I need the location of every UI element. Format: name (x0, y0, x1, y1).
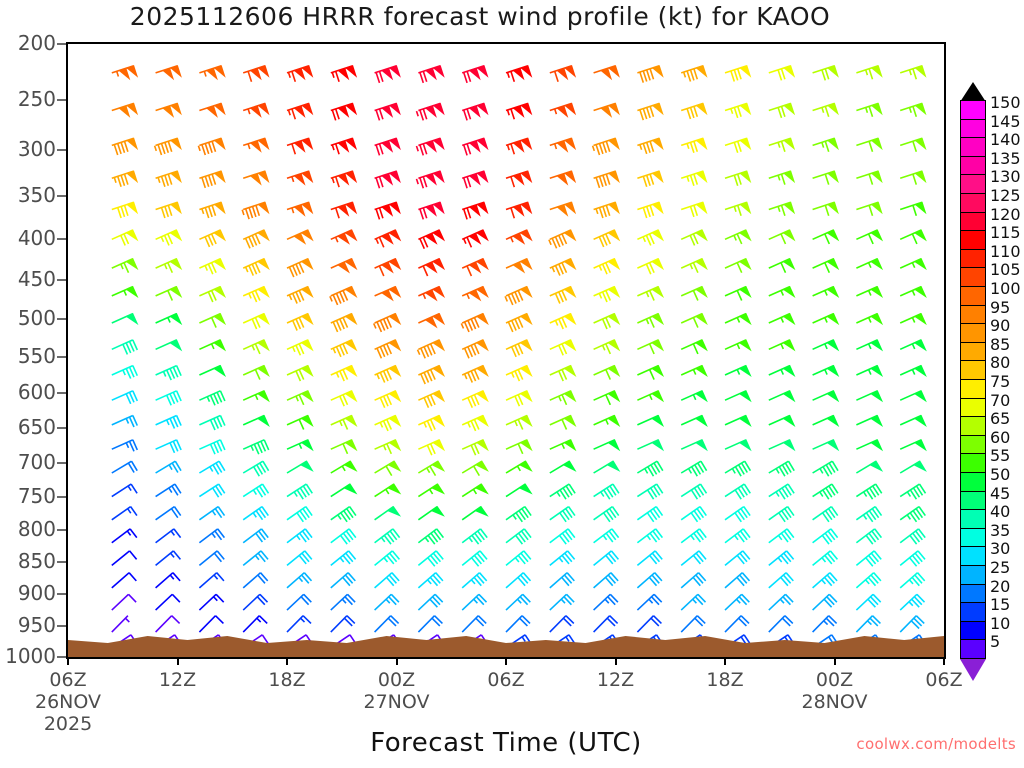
wind-barb (769, 340, 795, 350)
wind-barb (856, 484, 881, 499)
wind-barb (594, 230, 620, 247)
wind-barb (637, 594, 661, 610)
wind-barb (331, 314, 357, 332)
colorbar-tick-label: 135 (990, 151, 1021, 167)
wind-barb (242, 202, 268, 219)
wind-barb (549, 230, 575, 248)
wind-barb (594, 171, 619, 188)
wind-barb (418, 314, 444, 327)
colorbar-swatch[interactable] (960, 100, 986, 120)
wind-barb (681, 202, 706, 217)
wind-barb (637, 66, 662, 83)
wind-barb (856, 461, 881, 473)
wind-barb (769, 573, 794, 588)
wind-barb (725, 202, 750, 216)
wind-barb (813, 391, 839, 401)
wind-barb (287, 202, 312, 215)
wind-barb (156, 314, 182, 324)
wind-barb (856, 171, 881, 185)
wind-barb (550, 416, 576, 430)
wind-barb (506, 440, 532, 454)
wind-barb (243, 340, 269, 354)
colorbar-swatch[interactable] (960, 286, 986, 306)
wind-barb (637, 314, 663, 328)
wind-barb (681, 287, 707, 301)
colorbar-swatch[interactable] (960, 398, 986, 418)
wind-barb (243, 573, 268, 588)
wind-barb (681, 138, 706, 153)
wind-barb (243, 551, 268, 566)
y-axis-tick-label: 1000 (5, 644, 56, 668)
wind-barb (156, 66, 181, 79)
wind-barb (725, 616, 749, 632)
wind-barb (462, 529, 487, 544)
x-axis-tick-label: 12Z (576, 669, 656, 691)
wind-barb (813, 594, 837, 610)
wind-barb (462, 202, 487, 219)
wind-barb (112, 391, 138, 404)
wind-barb (156, 366, 182, 381)
wind-barb (243, 287, 269, 302)
colorbar-tick-label: 15 (990, 597, 1010, 613)
wind-barb (725, 314, 751, 324)
colorbar-swatch[interactable] (960, 137, 986, 157)
wind-barb (769, 103, 794, 118)
wind-barb (418, 551, 443, 566)
wind-barb (418, 287, 444, 300)
y-axis-tick-label: 500 (18, 306, 56, 330)
y-axis-tick-label: 950 (18, 613, 56, 637)
wind-barb (506, 340, 532, 357)
wind-barb (506, 230, 532, 243)
wind-barb (856, 287, 882, 297)
wind-barb (725, 66, 750, 82)
wind-barb (637, 507, 662, 522)
colorbar-swatch[interactable] (960, 546, 986, 566)
wind-barb (681, 440, 707, 450)
wind-barb (199, 259, 225, 275)
wind-barb (681, 340, 707, 354)
wind-barb (550, 391, 576, 405)
wind-barb (900, 551, 925, 566)
wind-barb (506, 391, 532, 406)
colorbar-legend[interactable]: 1501451401351301251201151101051009590858… (960, 82, 1024, 662)
wind-barb (112, 202, 137, 218)
wind-barb (112, 171, 137, 187)
wind-barb (681, 171, 706, 186)
wind-barb (199, 314, 225, 328)
wind-barb (769, 551, 794, 566)
colorbar-swatch[interactable] (960, 621, 986, 641)
wind-barb (330, 287, 356, 305)
wind-barb (462, 551, 487, 566)
x-axis-tick-label: 06Z (28, 669, 108, 691)
x-axis-tick-label: 18Z (685, 669, 765, 691)
wind-barb (375, 507, 400, 520)
wind-barb (375, 366, 401, 383)
wind-barb (594, 202, 619, 218)
wind-barb (506, 551, 531, 566)
x-axis-tick-label: 00Z (795, 669, 875, 691)
wind-barb (506, 594, 530, 610)
wind-barb (243, 171, 268, 184)
wind-barb (681, 416, 707, 426)
wind-barb (112, 461, 137, 473)
wind-barb (769, 230, 795, 244)
wind-barb (417, 171, 444, 188)
y-axis-tick-label: 450 (18, 267, 56, 291)
wind-barb (681, 507, 706, 522)
wind-barb (725, 287, 751, 301)
y-axis-tick-label: 600 (18, 380, 56, 404)
wind-barb (813, 66, 838, 81)
wind-barb (199, 616, 223, 632)
wind-barb (199, 507, 224, 520)
wind-barb (900, 391, 926, 401)
wind-barb (199, 551, 224, 566)
wind-barb (112, 529, 137, 543)
colorbar-tick-label: 60 (990, 430, 1010, 446)
colorbar-swatch[interactable] (960, 305, 986, 325)
wind-barb (769, 202, 794, 216)
wind-barb (112, 551, 137, 566)
wind-barb (287, 366, 313, 382)
wind-barb (331, 507, 356, 522)
wind-barb (331, 171, 356, 187)
wind-barb (550, 138, 575, 151)
colorbar-swatch[interactable] (960, 230, 986, 250)
wind-barb (462, 440, 488, 455)
colorbar-swatch[interactable] (960, 193, 986, 213)
wind-barb (900, 440, 926, 450)
wind-barb (331, 594, 355, 610)
wind-barb (550, 171, 575, 184)
wind-barb (375, 461, 400, 475)
wind-barb (462, 416, 488, 431)
wind-barb (637, 551, 662, 566)
wind-barb (594, 416, 620, 426)
wind-barb (725, 416, 751, 426)
wind-barb (112, 507, 137, 520)
wind-barb (243, 416, 269, 426)
wind-barb (462, 366, 488, 383)
wind-barb (900, 259, 926, 269)
page-title: 2025112606 HRRR forecast wind profile (k… (0, 2, 960, 31)
colorbar-swatch[interactable] (960, 360, 986, 380)
wind-barb (856, 202, 881, 216)
wind-barb (637, 103, 662, 120)
wind-barb (637, 366, 663, 380)
x-axis-tick-mark (834, 657, 836, 665)
wind-barb (637, 461, 662, 476)
wind-barb (900, 594, 924, 610)
colorbar-swatch[interactable] (960, 323, 986, 343)
wind-barb (506, 416, 532, 430)
wind-barb (637, 171, 662, 187)
colorbar-tick-label: 125 (990, 188, 1021, 204)
wind-barb (506, 103, 531, 119)
wind-barb (681, 461, 706, 476)
wind-barb (375, 484, 400, 497)
wind-barb (550, 461, 575, 473)
wind-barb (287, 287, 313, 304)
wind-barb (462, 103, 487, 120)
wind-barb (637, 529, 662, 543)
wind-barb (725, 551, 750, 566)
wind-barb (199, 391, 225, 406)
y-axis-tick-label: 700 (18, 450, 56, 474)
colorbar-swatch[interactable] (960, 267, 986, 287)
wind-barb (375, 616, 399, 632)
wind-barb (199, 484, 224, 497)
x-axis-title: Forecast Time (UTC) (66, 728, 946, 758)
x-axis-date-label: 26NOV (18, 691, 118, 713)
wind-barb (375, 573, 400, 588)
wind-barb (462, 573, 487, 588)
wind-barb (594, 314, 620, 329)
wind-barb (243, 391, 269, 401)
wind-barb (550, 594, 574, 610)
wind-barb (637, 138, 662, 154)
wind-barb (156, 616, 180, 632)
wind-barb (112, 484, 137, 497)
wind-barb (594, 287, 620, 302)
wind-barb (900, 484, 925, 499)
colorbar-tick-label: 120 (990, 207, 1021, 223)
wind-barb (506, 66, 531, 82)
wind-barb (418, 366, 444, 384)
wind-barb (900, 314, 926, 324)
x-axis-tick-mark (724, 657, 726, 665)
wind-barb (199, 529, 224, 543)
wind-barb (243, 529, 268, 543)
wind-barb (550, 202, 575, 215)
wind-barb (417, 103, 444, 120)
colorbar-swatch[interactable] (960, 639, 986, 659)
x-axis-tick-mark (505, 657, 507, 665)
y-axis-tick-mark (57, 462, 66, 464)
wind-barb (637, 202, 662, 218)
wind-barb (418, 616, 442, 632)
wind-barb (681, 594, 705, 610)
wind-barb (112, 230, 138, 245)
colorbar-tick-label: 90 (990, 318, 1010, 334)
colorbar-tick-label: 85 (990, 337, 1010, 353)
wind-barb (813, 259, 839, 273)
wind-barb (156, 507, 181, 520)
wind-barb (813, 573, 838, 588)
wind-barb (375, 287, 401, 300)
wind-barb (156, 594, 180, 610)
wind-barb (418, 529, 443, 544)
colorbar-swatch[interactable] (960, 509, 986, 529)
wind-barb (462, 507, 487, 520)
wind-barb (637, 440, 663, 450)
colorbar-swatch[interactable] (960, 119, 986, 139)
colorbar-tick-label: 10 (990, 616, 1010, 632)
colorbar-swatch[interactable] (960, 435, 986, 455)
wind-barb (418, 230, 444, 249)
colorbar-swatch[interactable] (960, 174, 986, 194)
y-axis-tick-label: 200 (18, 31, 56, 55)
wind-barb (681, 66, 706, 82)
y-axis-tick-mark (57, 496, 66, 498)
wind-barb (199, 171, 224, 188)
wind-barb (287, 340, 313, 355)
wind-barb (550, 551, 575, 566)
wind-barb (506, 366, 532, 382)
wind-barb (594, 529, 619, 543)
wind-barb (287, 594, 311, 610)
wind-barb (550, 66, 575, 82)
wind-barb (900, 616, 924, 632)
wind-barb (112, 573, 137, 588)
wind-barb (900, 171, 925, 185)
wind-barb (856, 551, 881, 566)
colorbar-swatch[interactable] (960, 491, 986, 511)
x-axis-tick-label: 12Z (138, 669, 218, 691)
wind-barb (112, 594, 136, 610)
wind-barb (856, 416, 882, 426)
colorbar-swatch[interactable] (960, 342, 986, 362)
wind-barb (199, 103, 224, 116)
colorbar-tick-label: 110 (990, 244, 1021, 260)
wind-barb (681, 551, 706, 566)
wind-barb (375, 594, 399, 610)
wind-barb (506, 138, 531, 154)
wind-barb (725, 366, 751, 376)
wind-barb (856, 507, 881, 522)
wind-barb (112, 66, 137, 79)
wind-barb (243, 616, 267, 632)
wind-barb (594, 484, 619, 499)
wind-barb (418, 202, 443, 219)
wind-barb (725, 138, 750, 153)
plot-area[interactable] (66, 42, 946, 659)
wind-barb (156, 484, 181, 497)
wind-barb (637, 616, 661, 632)
wind-barb (813, 507, 838, 522)
colorbar-tick-label: 55 (990, 448, 1010, 464)
wind-barb (287, 484, 312, 499)
wind-barb (287, 616, 311, 632)
wind-barb (156, 230, 182, 245)
colorbar-swatch[interactable] (960, 416, 986, 436)
wind-barb (813, 440, 839, 450)
wind-barb (287, 103, 312, 119)
wind-barb (681, 366, 707, 376)
colorbar-swatch[interactable] (960, 584, 986, 604)
wind-barb (769, 594, 793, 610)
y-axis-tick-mark (57, 392, 66, 394)
y-axis-tick-mark (57, 656, 66, 658)
wind-barb (856, 573, 881, 588)
wind-barb (900, 340, 926, 350)
wind-barb (156, 103, 181, 116)
wind-barb (900, 416, 926, 426)
wind-barb (112, 616, 130, 632)
colorbar-swatch[interactable] (960, 249, 986, 269)
wind-barb (813, 461, 838, 476)
colorbar-swatch[interactable] (960, 565, 986, 585)
wind-barb (813, 287, 839, 297)
wind-barb (769, 259, 795, 273)
colorbar-swatch[interactable] (960, 453, 986, 473)
wind-barb (418, 484, 443, 497)
colorbar-tick-label: 115 (990, 225, 1021, 241)
wind-barb (112, 416, 138, 428)
wind-barb (725, 461, 750, 476)
wind-barb (813, 366, 839, 376)
wind-barb (331, 391, 357, 406)
wind-barb (156, 529, 181, 543)
y-axis-tick-mark (57, 625, 66, 627)
y-axis-tick-mark (57, 195, 66, 197)
wind-barb (506, 616, 530, 632)
wind-barb (769, 366, 795, 376)
colorbar-swatch[interactable] (960, 602, 986, 622)
wind-barb (900, 287, 926, 297)
wind-barb (331, 259, 357, 272)
wind-barb (813, 314, 839, 324)
wind-barb (461, 314, 487, 332)
colorbar-swatch[interactable] (960, 379, 986, 399)
wind-barb (769, 416, 795, 426)
wind-barb (725, 391, 751, 401)
colorbar-tick-label: 150 (990, 95, 1021, 111)
wind-barb (418, 461, 443, 475)
wind-barb (506, 461, 531, 473)
wind-barb (637, 340, 663, 354)
wind-barb (594, 573, 619, 588)
colorbar-swatch[interactable] (960, 212, 986, 232)
wind-barb (287, 573, 312, 588)
wind-barb (375, 66, 400, 83)
wind-barb (331, 138, 356, 154)
wind-barb (856, 440, 882, 450)
wind-barb (331, 230, 357, 243)
wind-barb (375, 259, 401, 276)
colorbar-swatch[interactable] (960, 156, 986, 176)
x-axis-date-label: 27NOV (347, 691, 447, 713)
colorbar-swatch[interactable] (960, 528, 986, 548)
wind-barb (594, 103, 619, 116)
wind-barb (550, 616, 574, 632)
wind-barb (462, 461, 487, 475)
wind-barb (199, 230, 225, 247)
wind-barb (243, 230, 269, 248)
wind-barb (243, 66, 268, 82)
wind-barb (637, 484, 662, 499)
wind-barb (243, 484, 268, 497)
wind-barb (156, 416, 182, 429)
x-axis-tick-label: 00Z (357, 669, 437, 691)
wind-barb (375, 416, 401, 431)
wind-barb (156, 551, 181, 566)
wind-barb (375, 529, 400, 544)
wind-barb (156, 171, 181, 187)
wind-barb (506, 507, 531, 522)
colorbar-tick-label: 105 (990, 262, 1021, 278)
colorbar-swatch[interactable] (960, 472, 986, 492)
wind-barb (637, 287, 663, 301)
wind-barb (331, 366, 357, 382)
wind-barb (331, 551, 356, 566)
wind-barb (462, 138, 487, 155)
wind-barb (506, 259, 532, 272)
wind-barb (243, 314, 269, 329)
wind-barb (199, 461, 224, 474)
